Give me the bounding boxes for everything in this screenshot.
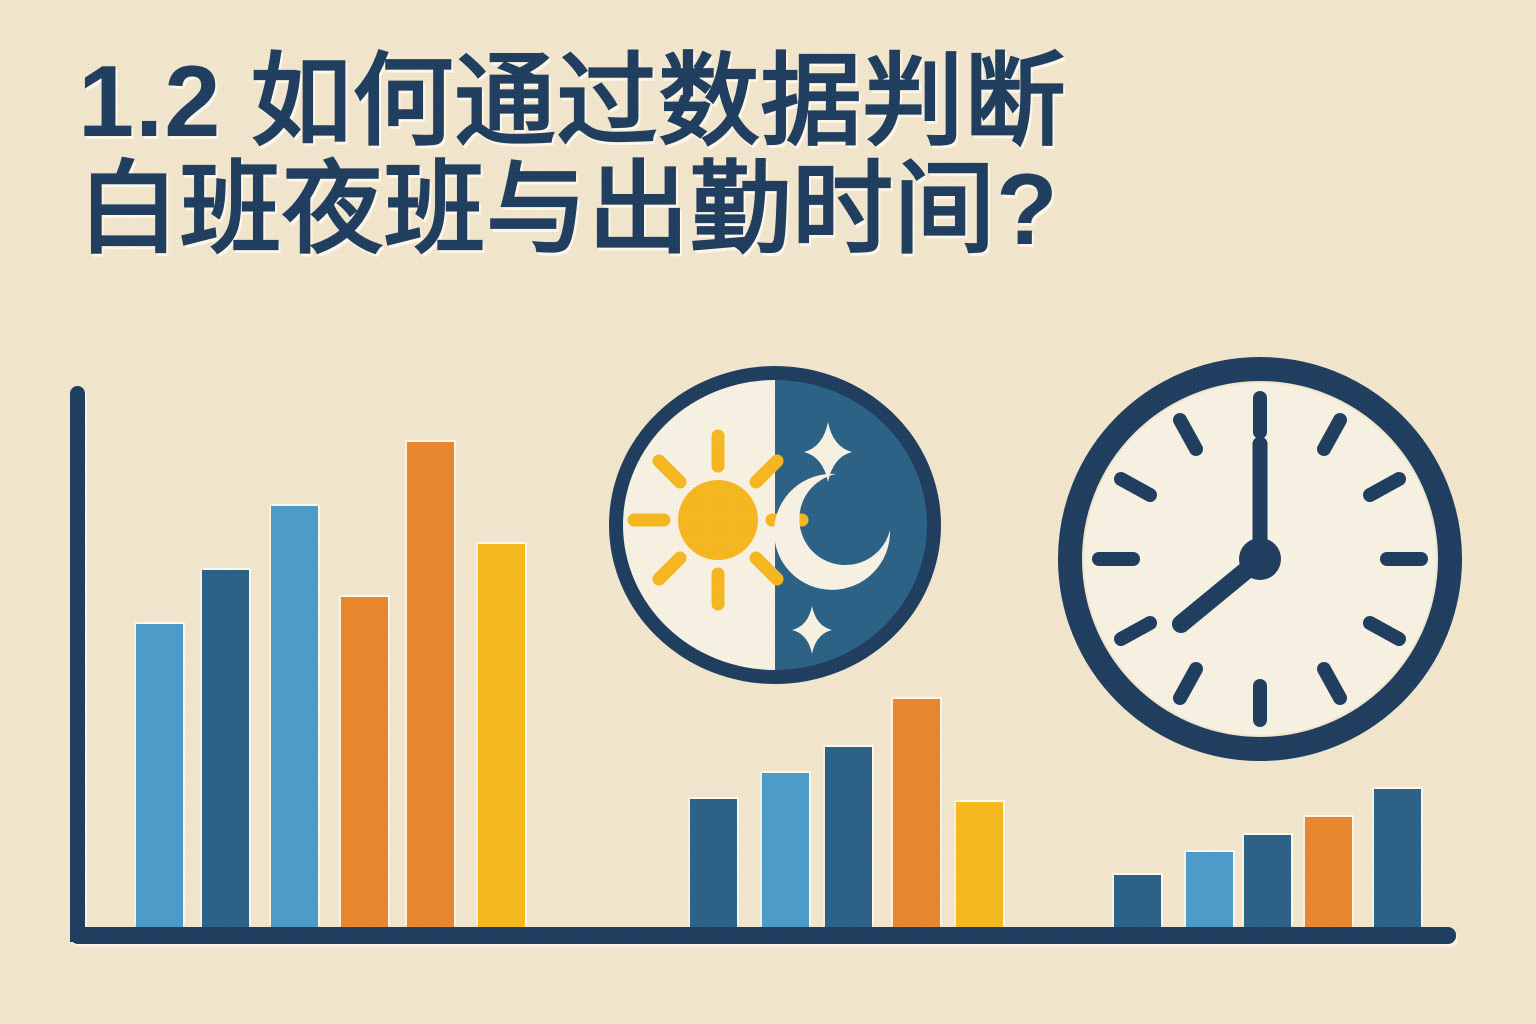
chart-bar	[1374, 789, 1421, 927]
chart-x-axis	[70, 927, 1456, 944]
chart-bar	[202, 570, 249, 927]
chart-bar	[407, 442, 454, 927]
chart-bar	[136, 624, 183, 927]
chart-y-axis	[70, 386, 85, 942]
analog-clock-icon	[1058, 356, 1462, 762]
chart-bar	[893, 699, 940, 927]
poster-canvas: 1.2 如何通过数据判断 白班夜班与出勤时间?	[0, 0, 1536, 1024]
title-line-2: 白班夜班与出勤时间?	[78, 156, 1278, 264]
chart-bar	[956, 802, 1003, 927]
chart-bar	[341, 597, 388, 927]
day-night-split-circle-icon	[600, 358, 950, 692]
chart-bar	[762, 773, 809, 927]
chart-bar	[271, 506, 318, 927]
page-title: 1.2 如何通过数据判断 白班夜班与出勤时间?	[78, 48, 1278, 264]
chart-bar	[478, 544, 525, 927]
chart-bar	[1305, 817, 1352, 927]
chart-bar	[1244, 835, 1291, 927]
title-line-1: 1.2 如何通过数据判断	[78, 48, 1278, 156]
chart-bar	[1186, 852, 1233, 927]
chart-bar	[825, 747, 872, 927]
clock-center-pin	[1239, 538, 1281, 580]
chart-bar	[690, 799, 737, 927]
chart-bar	[1114, 875, 1161, 927]
